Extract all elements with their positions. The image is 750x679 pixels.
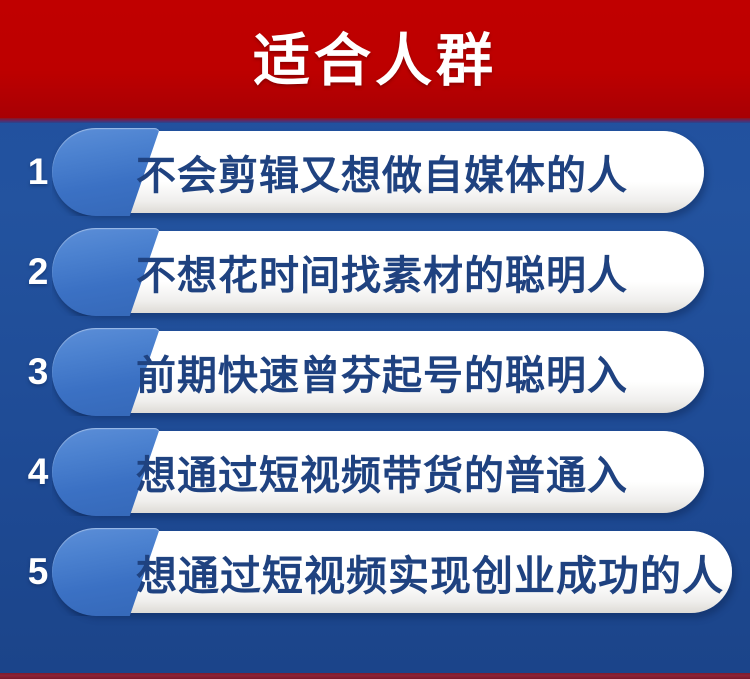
list-item[interactable]: 5 想通过短视频实现创业成功的人 [0, 528, 750, 613]
list-item[interactable]: 2 不想花时间找素材的聪明人 [0, 228, 750, 313]
list-item-number: 5 [0, 528, 76, 616]
list-item-label: 想通过短视频实现创业成功的人 [136, 531, 724, 613]
list-item-number: 1 [0, 128, 76, 216]
list-item-label: 想通过短视频带货的普通入 [136, 431, 628, 513]
list-item-number: 4 [0, 428, 76, 516]
list-item-label: 前期快速曾芬起号的聪明入 [136, 331, 628, 413]
list-item[interactable]: 3 前期快速曾芬起号的聪明入 [0, 328, 750, 413]
list-item-number: 2 [0, 228, 76, 316]
list-item-label: 不想花时间找素材的聪明人 [136, 231, 628, 313]
list-item-label: 不会剪辑又想做自媒体的人 [136, 131, 628, 213]
list-item[interactable]: 1 不会剪辑又想做自媒体的人 [0, 128, 750, 213]
audience-list: 1 不会剪辑又想做自媒体的人 2 不想花时间找素材的聪明人 3 前期快速曾芬起号… [0, 128, 750, 628]
header-divider [0, 118, 750, 123]
list-item[interactable]: 4 想通过短视频带货的普通入 [0, 428, 750, 513]
footer-strip [0, 673, 750, 679]
promo-poster: 适合人群 1 不会剪辑又想做自媒体的人 2 不想花时间找素材的聪明人 3 前期快… [0, 0, 750, 679]
list-item-number: 3 [0, 328, 76, 416]
page-title: 适合人群 [253, 33, 497, 90]
header-banner: 适合人群 [0, 0, 750, 118]
